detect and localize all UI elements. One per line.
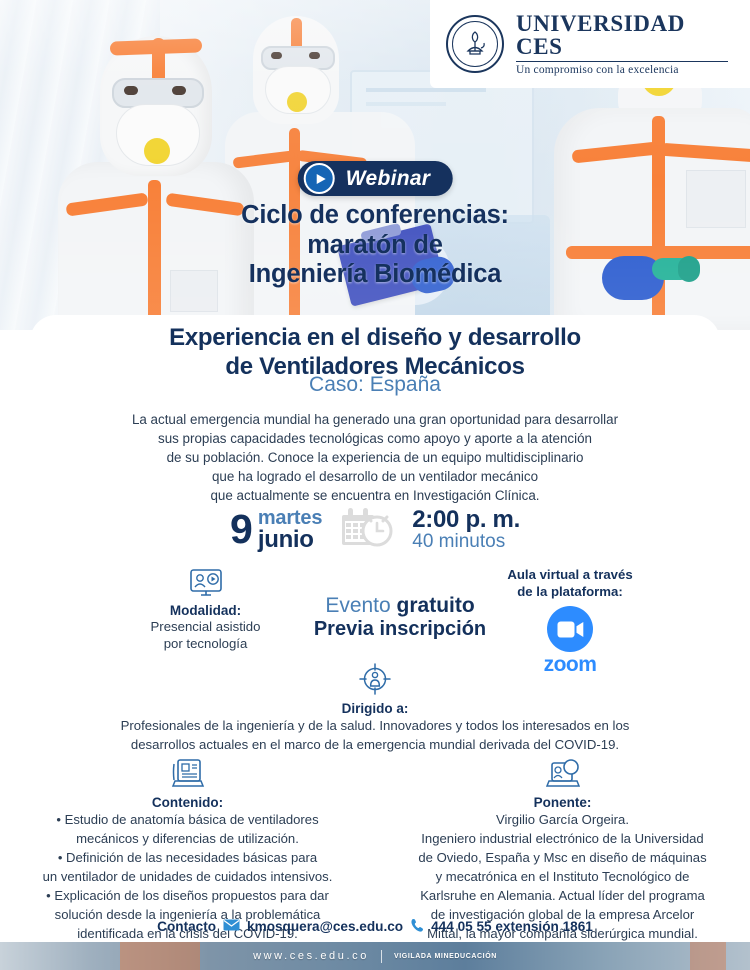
lead-paragraph: La actual emergencia mundial ha generado… [0,410,750,505]
content-column: Contenido: • Estudio de anatomía básica … [0,758,375,943]
poster-root: UNIVERSIDAD CES Un compromiso con la exc… [0,0,750,970]
page-title-line-1: Experiencia en el diseño y desarrollo [0,324,750,353]
event-month: junio [258,528,322,552]
audience-label: Dirigido a: [0,701,750,716]
event-day-words: martes junio [258,508,322,552]
modality-label: Modalidad: [118,603,293,618]
schedule-row: 9 martes junio 2:00 p. m. [0,505,750,554]
contact-phone[interactable]: 444 05 55 extensión 1861 [431,919,593,934]
hero-title: Ciclo de conferencias: maratón de Ingeni… [0,201,750,290]
lead-line: sus propias capacidades tecnológicas com… [0,429,750,448]
webinar-badge-label: Webinar [346,167,431,191]
university-logo: UNIVERSIDAD CES Un compromiso con la exc… [430,0,750,88]
hero-title-line-3: Ingeniería Biomédica [0,260,750,290]
lead-line: de su población. Conoce la experiencia d… [0,448,750,467]
calendar-clock-icon [340,505,394,554]
modality-block: Modalidad: Presencial asistido por tecno… [118,568,293,653]
modality-value-1: Presencial asistido [118,618,293,635]
lead-line: que ha logrado el desarrollo de un venti… [0,467,750,486]
audience-line-1: Profesionales de la ingeniería y de la s… [0,717,750,735]
platform-label-1: Aula virtual a través [470,566,670,583]
play-icon [304,163,335,194]
speaker-line: de Oviedo, España y Msc en diseño de máq… [391,849,734,867]
event-time: 2:00 p. m. [412,507,520,532]
contact-label: Contacto [157,919,216,934]
modality-value-2: por tecnología [118,635,293,652]
content-line: • Explicación de los diseños propuestos … [16,887,359,905]
details-row: Contenido: • Estudio de anatomía básica … [0,758,750,943]
hero-title-line-2: maratón de [0,231,750,261]
hero-title-line-1: Ciclo de conferencias: [0,201,750,231]
footer-content: www.ces.edu.co VIGILADA MINEDUCACIÓN [0,942,750,970]
content-line: • Estudio de anatomía básica de ventilad… [16,811,359,829]
target-person-icon [0,662,750,696]
university-seal-icon [446,15,504,73]
speaker-line: y mecatrónica en el Instituto Tecnológic… [391,868,734,886]
footer-vigilada-label: VIGILADA MINEDUCACIÓN [394,953,497,960]
footer-website[interactable]: www.ces.edu.co [253,950,369,962]
event-time-block: 2:00 p. m. 40 minutos [412,507,520,553]
audience-line-2: desarrollos actuales en el marco de la e… [0,736,750,754]
event-day-number: 9 [230,510,253,549]
laptop-speaker-icon [391,758,734,790]
screen-presenter-icon [118,568,293,598]
speaker-column: Ponente: Virgilio García Orgeira. Ingeni… [375,758,750,943]
lead-line: La actual emergencia mundial ha generado… [0,410,750,429]
event-duration: 40 minutos [412,532,520,552]
page-subtitle: Caso: España [0,373,750,397]
envelope-icon [223,919,240,934]
pricing-strong: gratuito [397,594,475,617]
laptop-document-icon [16,758,359,790]
university-name: UNIVERSIDAD CES [516,12,728,58]
pricing-prefix: Evento [325,594,396,617]
lead-line: que actualmente se encuentra en Investig… [0,486,750,505]
footer-bar: www.ces.edu.co VIGILADA MINEDUCACIÓN [0,942,750,970]
content-line: mecánicos y diferencias de utilización. [16,830,359,848]
university-tagline: Un compromiso con la excelencia [516,64,728,76]
speaker-title: Ponente: [391,795,734,810]
contact-email[interactable]: kmosquera@ces.edu.co [247,919,403,934]
footer-divider [381,950,382,963]
phone-icon [410,918,424,935]
logo-text-block: UNIVERSIDAD CES Un compromiso con la exc… [516,12,728,76]
webinar-badge: Webinar [298,161,453,196]
info-row: Modalidad: Presencial asistido por tecno… [0,568,750,668]
platform-label-2: de la plataforma: [470,583,670,600]
speaker-line: Ingeniero industrial electrónico de la U… [391,830,734,848]
platform-block: Aula virtual a través de la plataforma: … [470,566,670,677]
logo-divider-rule [516,61,728,62]
event-weekday: martes [258,508,322,528]
content-title: Contenido: [16,795,359,810]
speaker-line: Virgilio García Orgeira. [391,811,734,829]
speaker-line: Karlsruhe en Alemania. Actual líder del … [391,887,734,905]
content-line: • Definición de las necesidades básicas … [16,849,359,867]
audience-block: Dirigido a: Profesionales de la ingenier… [0,662,750,754]
contact-row: Contacto kmosquera@ces.edu.co 444 05 55 … [0,918,750,935]
zoom-camera-icon [547,606,593,652]
content-line: un ventilador de unidades de cuidados in… [16,868,359,886]
